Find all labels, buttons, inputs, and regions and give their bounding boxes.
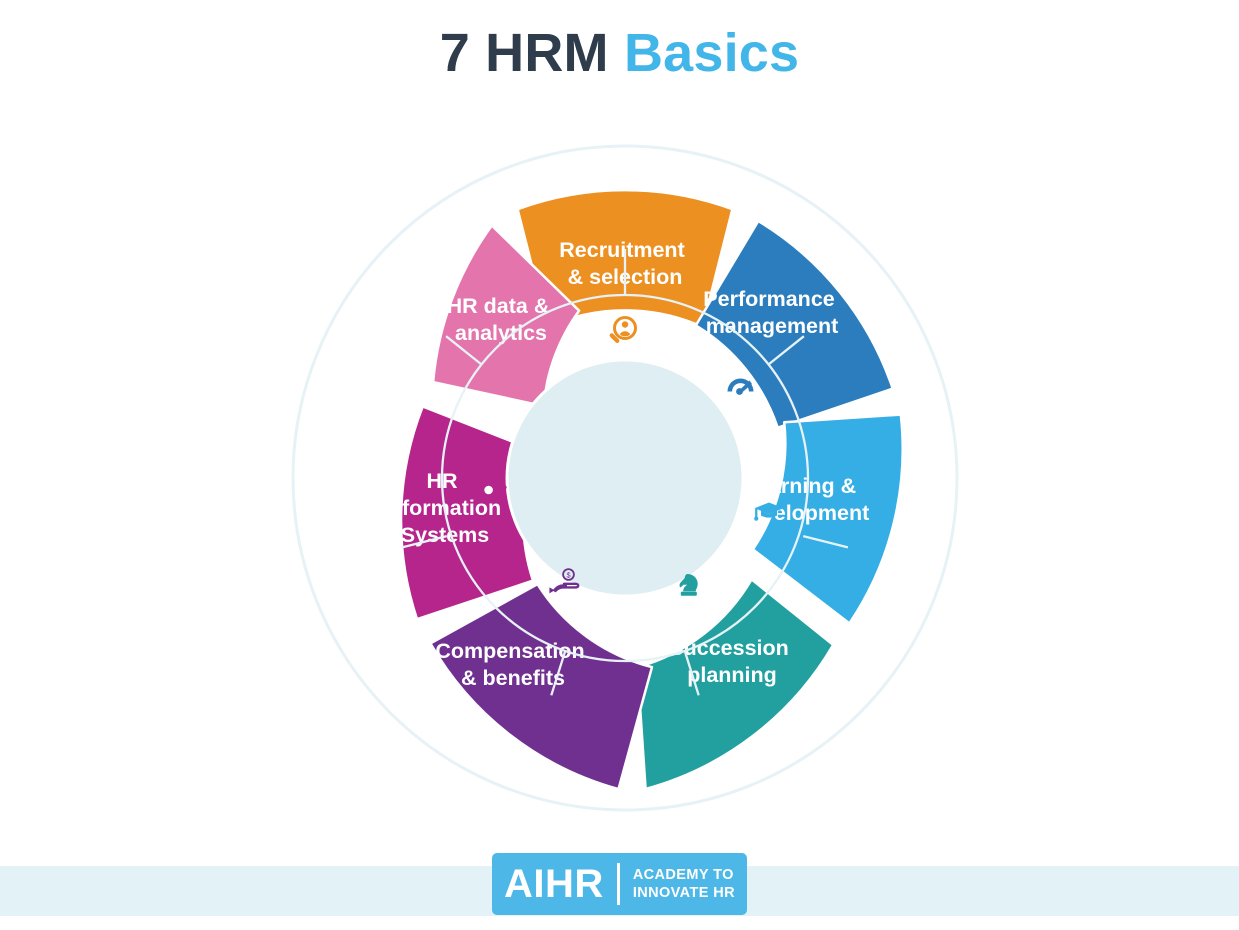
logo-tagline-line1: ACADEMY TO — [633, 867, 734, 883]
wheel-icon-magnifier-person-icon — [609, 318, 636, 344]
page-title-space — [609, 23, 624, 83]
logo-divider — [617, 863, 620, 905]
wheel-icon-speedometer-icon — [728, 379, 754, 395]
aihr-logo[interactable]: AIHR ACADEMY TO INNOVATE HR — [492, 853, 747, 915]
logo-tagline: ACADEMY TO INNOVATE HR — [633, 866, 735, 902]
wheel-svg: $ — [285, 138, 965, 818]
logo-tagline-line2: INNOVATE HR — [633, 885, 735, 901]
logo-wordmark: AIHR — [504, 864, 617, 904]
hrm-basics-wheel: $ — [285, 138, 965, 818]
page-title-main: 7 HRM — [440, 23, 609, 83]
page-title: 7 HRM Basics — [0, 26, 1239, 80]
wheel-segment-compensation-benefits[interactable]: Compensation & benefits — [430, 584, 652, 789]
infographic-page: 7 HRM Basics — [0, 0, 1239, 930]
page-title-accent: Basics — [624, 23, 799, 83]
